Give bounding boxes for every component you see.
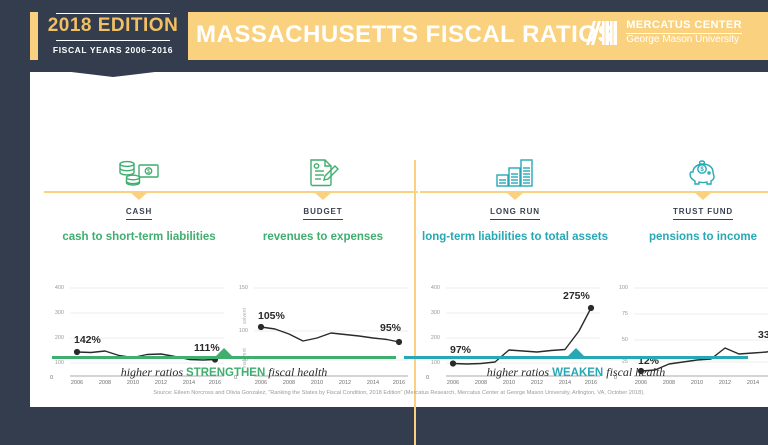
- xtick-2012: 2012: [333, 380, 357, 386]
- panel-category-trust-fund: TRUST FUND: [608, 200, 768, 216]
- badge-rule-bottom: [56, 40, 170, 41]
- xtick-2008: 2008: [657, 380, 681, 386]
- panel-ratio-long-run: long-term liabilities to total assets: [420, 216, 610, 262]
- ytick-200: 200: [422, 335, 440, 341]
- badge-notch: [38, 68, 188, 77]
- xtick-2010: 2010: [121, 380, 145, 386]
- cash-coins-bill-icon: $: [44, 154, 234, 188]
- badge-year: 2018 EDITION: [38, 15, 188, 37]
- end-value-label: 275%: [563, 290, 590, 302]
- ytick-50: 50: [610, 337, 628, 343]
- mercatus-mark-icon: [585, 20, 619, 46]
- xtick-2016: 2016: [203, 380, 227, 386]
- panel-category-long-run: LONG RUN: [420, 200, 610, 216]
- page-title: MASSACHUSETTS FISCAL RATIOS: [196, 21, 614, 49]
- axis-label-solvent: solvent: [242, 308, 248, 324]
- edition-badge: 2018 EDITION FISCAL YEARS 2006–2016: [38, 0, 188, 68]
- ytick-100: 100: [230, 328, 248, 334]
- xtick-2008: 2008: [469, 380, 493, 386]
- badge-subtitle: FISCAL YEARS 2006–2016: [38, 45, 188, 55]
- xtick-2008: 2008: [93, 380, 117, 386]
- xtick-2006: 2006: [441, 380, 465, 386]
- banner-arrow-icon: [215, 348, 233, 357]
- start-value-label: 142%: [74, 334, 101, 346]
- piggy-bank-icon: $: [608, 154, 768, 188]
- banner-suffix: fiscal health: [265, 365, 327, 379]
- banner-prefix: higher ratios: [487, 365, 552, 379]
- xtick-2010: 2010: [305, 380, 329, 386]
- panel-rule: [44, 188, 234, 200]
- logo-title: MERCATUS CENTER: [626, 20, 742, 34]
- panel-category-budget: BUDGET: [228, 200, 418, 216]
- ytick-200: 200: [46, 335, 64, 341]
- banner-prefix: higher ratios: [121, 365, 186, 379]
- panel-ratio-trust-fund: pensions to income: [608, 216, 768, 262]
- panel-ratio-budget: revenues to expenses: [228, 216, 418, 262]
- panel-rule: [420, 188, 610, 200]
- ytick-300: 300: [46, 310, 64, 316]
- document-pencil-icon: [228, 154, 418, 188]
- xtick-2014: 2014: [361, 380, 385, 386]
- xtick-2016: 2016: [387, 380, 411, 386]
- xtick-2010: 2010: [685, 380, 709, 386]
- banner-suffix: fiscal health: [603, 365, 665, 379]
- xtick-2012: 2012: [149, 380, 173, 386]
- ytick-400: 400: [422, 285, 440, 291]
- logo-subtitle: George Mason University: [626, 34, 742, 46]
- ytick-150: 150: [230, 285, 248, 291]
- ytick-75: 75: [610, 311, 628, 317]
- xtick-2012: 2012: [713, 380, 737, 386]
- banner-text-right: higher ratios WEAKEN fiscal health: [404, 365, 748, 380]
- start-value-label: 105%: [258, 310, 285, 322]
- svg-text:$: $: [147, 169, 150, 175]
- banner-arrow-icon: [567, 348, 585, 357]
- ytick-300: 300: [422, 310, 440, 316]
- page-header: 2018 EDITION FISCAL YEARS 2006–2016 MASS…: [0, 0, 768, 72]
- xtick-2014: 2014: [553, 380, 577, 386]
- xtick-2006: 2006: [629, 380, 653, 386]
- mercatus-logo: MERCATUS CENTER George Mason University: [585, 20, 742, 46]
- badge-rule-top: [56, 13, 170, 14]
- ascending-bars-icon: [420, 154, 610, 188]
- xtick-2006: 2006: [65, 380, 89, 386]
- end-value-label: 33%: [758, 329, 768, 341]
- ytick-100: 100: [610, 285, 628, 291]
- banner-text-left: higher ratios STRENGTHEN fiscal health: [52, 365, 396, 380]
- xtick-2006: 2006: [249, 380, 273, 386]
- banner-emphasis: WEAKEN: [552, 367, 603, 379]
- panel-ratio-cash: cash to short-term liabilities: [44, 216, 234, 262]
- xtick-2016: 2016: [579, 380, 603, 386]
- end-value-label: 95%: [380, 322, 401, 334]
- xtick-2014: 2014: [741, 380, 765, 386]
- panel-rule: [228, 188, 418, 200]
- xtick-2008: 2008: [277, 380, 301, 386]
- panel-rule: [608, 188, 768, 200]
- xtick-2014: 2014: [177, 380, 201, 386]
- banner-emphasis: STRENGTHEN: [186, 367, 265, 379]
- xtick-2012: 2012: [525, 380, 549, 386]
- content-card: $ CASH cash to short-term liabilities 40…: [30, 72, 768, 407]
- xtick-2010: 2010: [497, 380, 521, 386]
- panel-category-cash: CASH: [44, 200, 234, 216]
- ytick-400: 400: [46, 285, 64, 291]
- start-value-label: 97%: [450, 344, 471, 356]
- source-citation: Source: Eileen Norcross and Olivia Gonza…: [30, 390, 768, 396]
